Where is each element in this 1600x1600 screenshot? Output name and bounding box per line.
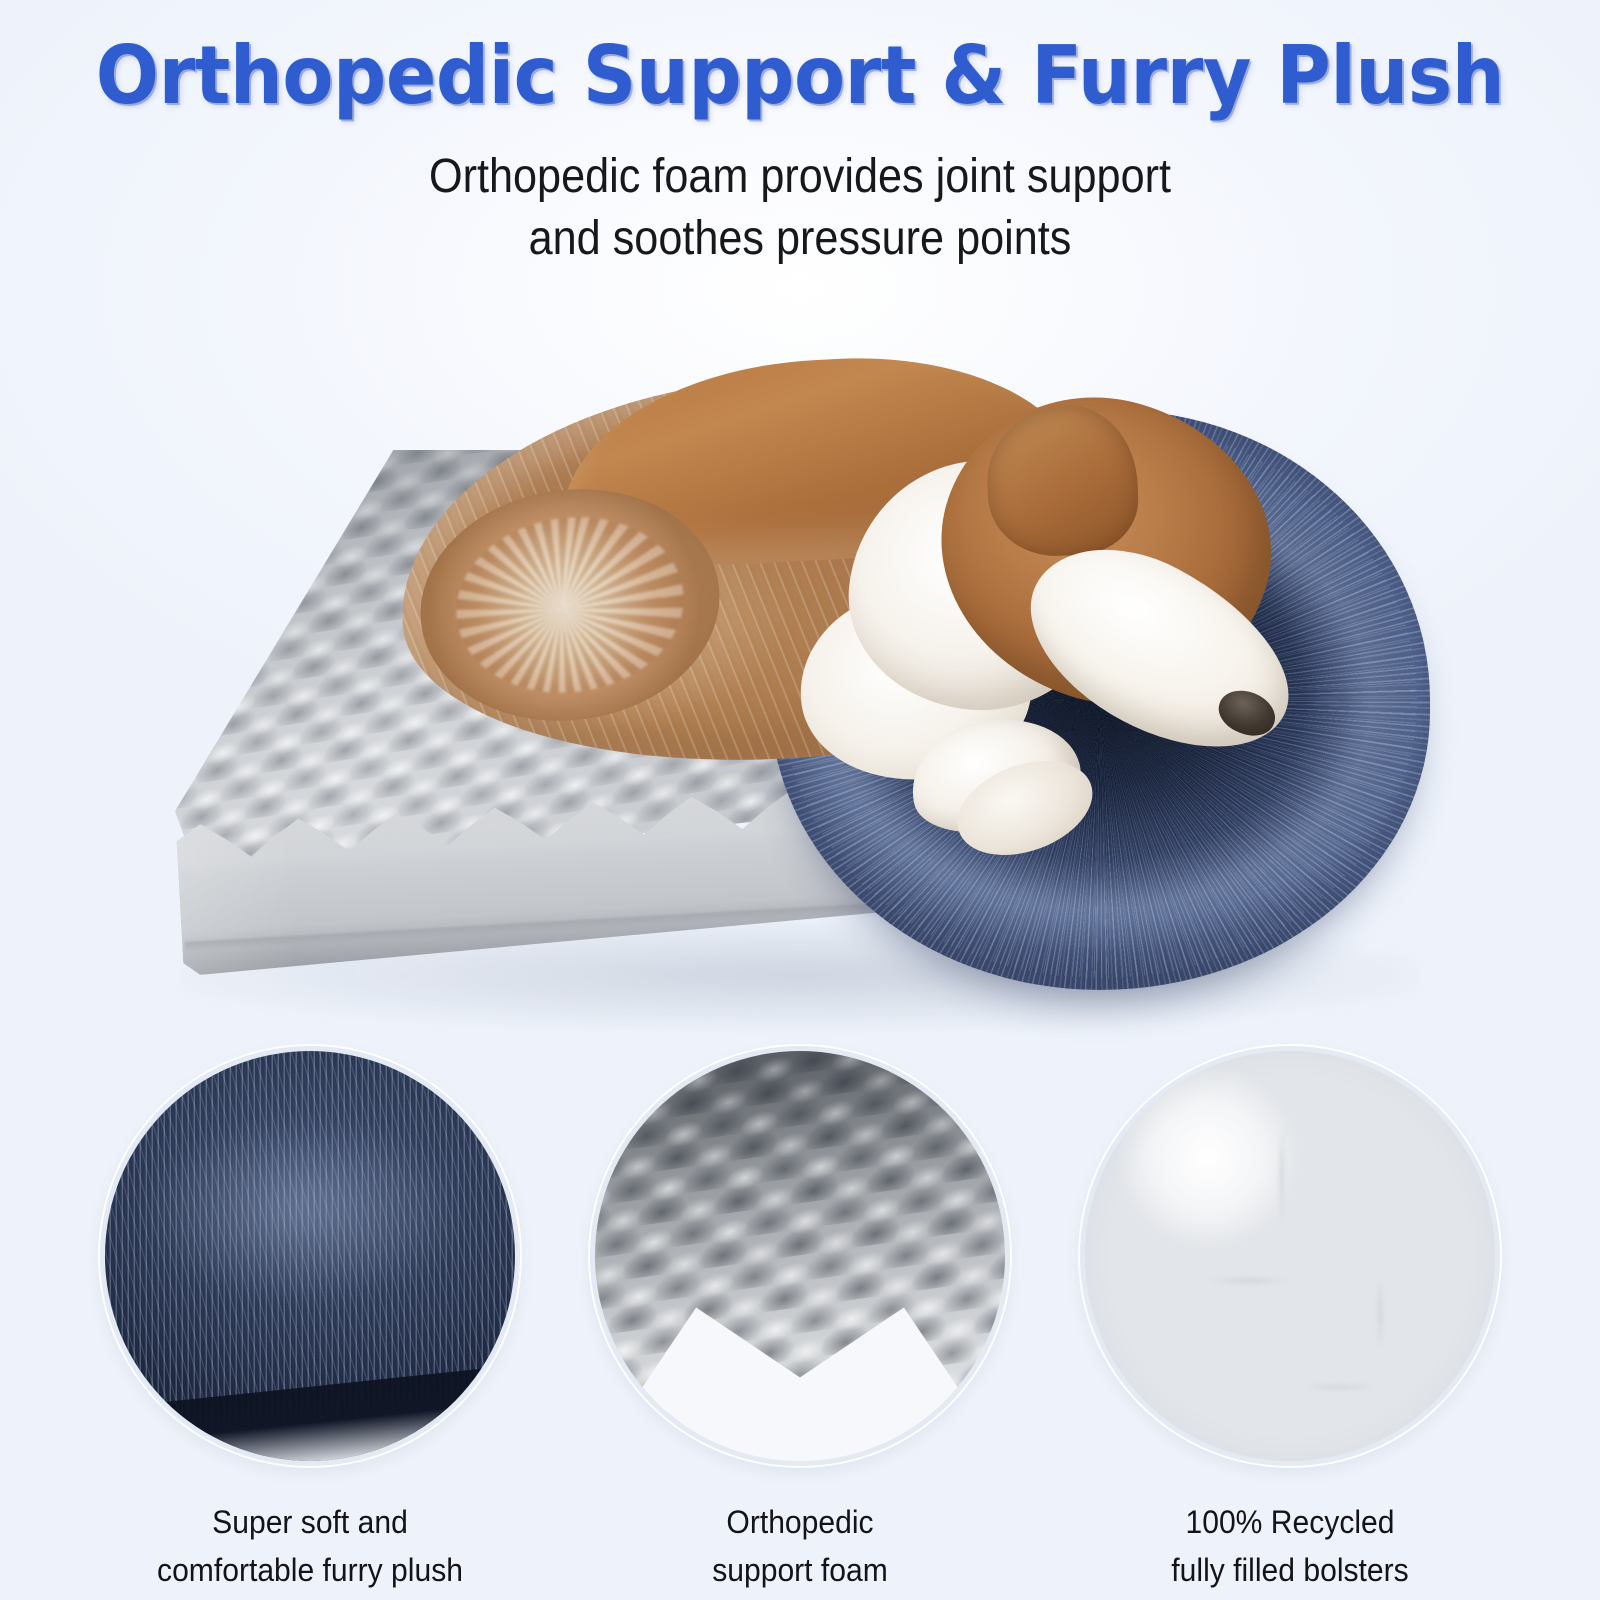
feature-caption-plush: Super soft and comfortable furry plush xyxy=(113,1498,508,1594)
fiberfill-swatch-icon xyxy=(1085,1051,1495,1461)
egg-crate-foam-swatch-icon xyxy=(595,1051,1005,1461)
fiberfill-vignette xyxy=(1085,1051,1495,1461)
dog-tail-swirl xyxy=(445,503,695,708)
caption-line-1: Orthopedic xyxy=(603,1498,998,1546)
hero-product-image xyxy=(0,330,1600,1030)
dog-ear xyxy=(985,403,1140,558)
feature-item-plush: Super soft and comfortable furry plush xyxy=(100,1046,520,1466)
caption-line-2: fully filled bolsters xyxy=(1093,1546,1488,1594)
subtitle-line-2: and soothes pressure points xyxy=(80,208,1520,270)
plush-fur-swatch-icon xyxy=(105,1051,515,1461)
feature-thumbnail-foam xyxy=(590,1046,1010,1466)
page-title: Orthopedic Support & Furry Plush xyxy=(56,36,1544,116)
sleeping-dog xyxy=(380,340,1320,810)
product-feature-page: Orthopedic Support & Furry Plush Orthope… xyxy=(0,0,1600,1600)
feature-caption-fill: 100% Recycled fully filled bolsters xyxy=(1093,1498,1488,1594)
feature-thumbnail-plush xyxy=(100,1046,520,1466)
caption-line-2: comfortable furry plush xyxy=(113,1546,508,1594)
feature-caption-foam: Orthopedic support foam xyxy=(603,1498,998,1594)
caption-line-1: 100% Recycled xyxy=(1093,1498,1488,1546)
caption-line-2: support foam xyxy=(603,1546,998,1594)
plush-highlight xyxy=(138,1117,466,1306)
subtitle-line-1: Orthopedic foam provides joint support xyxy=(80,146,1520,208)
page-subtitle: Orthopedic foam provides joint support a… xyxy=(80,146,1520,270)
feature-item-fill: 100% Recycled fully filled bolsters xyxy=(1080,1046,1500,1466)
caption-line-1: Super soft and xyxy=(113,1498,508,1546)
feature-row: Super soft and comfortable furry plush O… xyxy=(0,1046,1600,1600)
feature-thumbnail-fill xyxy=(1080,1046,1500,1466)
feature-item-foam: Orthopedic support foam xyxy=(590,1046,1010,1466)
